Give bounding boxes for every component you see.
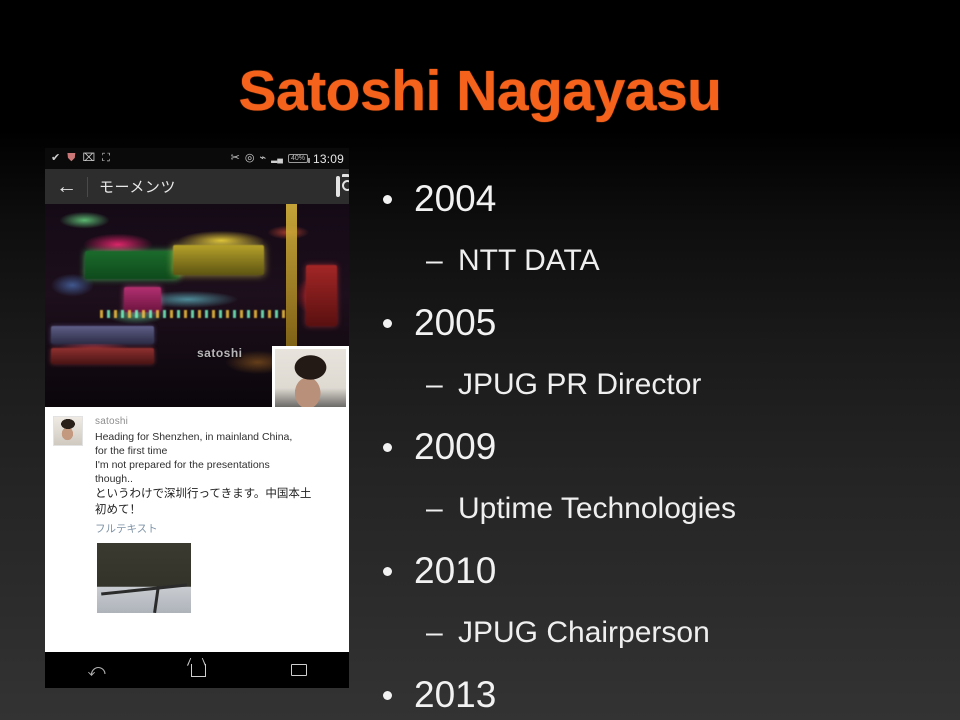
post-text-line: Heading for Shenzhen, in mainland China, [95, 430, 339, 444]
bullet-dot-icon [383, 319, 392, 328]
list-item-label: JPUG PR Director [458, 368, 701, 401]
neon-sign [306, 265, 336, 326]
divider [87, 177, 88, 197]
post-body: satoshi Heading for Shenzhen, in mainlan… [95, 416, 339, 536]
bullet-list: 2004 – NTT DATA 2005 – JPUG PR Director … [376, 168, 952, 720]
list-item: 2013 [376, 664, 952, 720]
shield-icon: ⛊ [67, 153, 75, 164]
dash-marker-icon: – [426, 354, 443, 416]
neon-sign [85, 251, 179, 279]
list-item: – NTT DATA [376, 230, 952, 292]
signal-icon: ▂▄ [271, 155, 283, 163]
camera-icon [336, 176, 340, 197]
list-item-label: JPUG Chairperson [458, 616, 710, 649]
dash-marker-icon: – [426, 478, 443, 540]
list-item: 2009 [376, 416, 952, 478]
list-item: – Uptime Technologies [376, 478, 952, 540]
dash-marker-icon: – [426, 230, 443, 292]
wifi-icon: ⌁ [260, 153, 267, 164]
post-text-line: I'm not prepared for the presentations [95, 458, 339, 472]
post-text-line: though.. [95, 472, 339, 486]
list-item-label: 2005 [414, 302, 496, 343]
nav-back-icon[interactable]: ⤺ [87, 662, 105, 679]
bullet-dot-icon [383, 567, 392, 576]
battery-icon: 40% [288, 154, 308, 163]
selfie-overlay [272, 346, 349, 407]
list-item: 2004 [376, 168, 952, 230]
android-nav-bar: ⤺ [45, 652, 349, 688]
phone-screenshot: ✔ ⛊ ⌧ ⛶ ✂ ◎ ⌁ ▂▄ 40% 13:09 ← モーメンツ [45, 148, 349, 688]
recents-icon[interactable] [291, 664, 307, 676]
status-left-icons: ✔ ⛊ ⌧ ⛶ [51, 153, 110, 164]
post-author: satoshi [95, 416, 339, 427]
list-item: 2010 [376, 540, 952, 602]
neon-garland [100, 310, 288, 318]
list-item-label: 2004 [414, 178, 496, 219]
status-right-icons: ✂ ◎ ⌁ ▂▄ 40% 13:09 [231, 152, 344, 166]
post-card: satoshi Heading for Shenzhen, in mainlan… [45, 407, 349, 685]
neon-sign [51, 326, 154, 344]
phone-status-bar: ✔ ⛊ ⌧ ⛶ ✂ ◎ ⌁ ▂▄ 40% 13:09 [45, 148, 349, 169]
avatar [53, 416, 83, 446]
app-bar: ← モーメンツ [45, 169, 349, 204]
chat-icon: ⌧ [82, 153, 95, 164]
list-item-label: Uptime Technologies [458, 492, 736, 525]
post-photo[interactable]: satoshi [45, 204, 349, 407]
street-pillar [286, 204, 297, 350]
post-text-line: for the first time [95, 444, 339, 458]
post-attachment-thumbnail[interactable] [95, 541, 193, 615]
post-text-line-jp: 初めて！ [95, 503, 339, 518]
home-icon[interactable] [191, 664, 206, 677]
neon-sign [51, 348, 154, 364]
bullet-dot-icon [383, 691, 392, 700]
list-item: – JPUG Chairperson [376, 602, 952, 664]
bullet-dot-icon [383, 195, 392, 204]
mute-icon: ✂ [231, 153, 240, 164]
page-title: Satoshi Nagayasu [0, 58, 960, 124]
list-item-label: NTT DATA [458, 244, 600, 277]
check-icon: ✔ [51, 153, 60, 164]
list-item: 2005 [376, 292, 952, 354]
neon-sign [173, 245, 264, 275]
post-text-line-jp: というわけで深圳行ってきます。中国本土 [95, 487, 339, 502]
list-item: – JPUG PR Director [376, 354, 952, 416]
dash-marker-icon: – [426, 602, 443, 664]
bullet-dot-icon [383, 443, 392, 452]
camera-icon: ⛶ [102, 153, 110, 164]
alarm-icon: ◎ [245, 153, 255, 164]
full-text-link[interactable]: フルテキスト [95, 521, 339, 536]
list-item-label: 2013 [414, 674, 496, 715]
photo-watermark: satoshi [197, 346, 243, 360]
camera-button[interactable] [336, 178, 340, 196]
status-clock: 13:09 [313, 152, 344, 166]
presentation-slide: Satoshi Nagayasu 2004 – NTT DATA 2005 – … [0, 0, 960, 720]
app-title: モーメンツ [99, 176, 176, 197]
neon-sign [124, 287, 160, 311]
list-item-label: 2010 [414, 550, 496, 591]
list-item-label: 2009 [414, 426, 496, 467]
back-arrow-icon[interactable]: ← [56, 176, 77, 197]
